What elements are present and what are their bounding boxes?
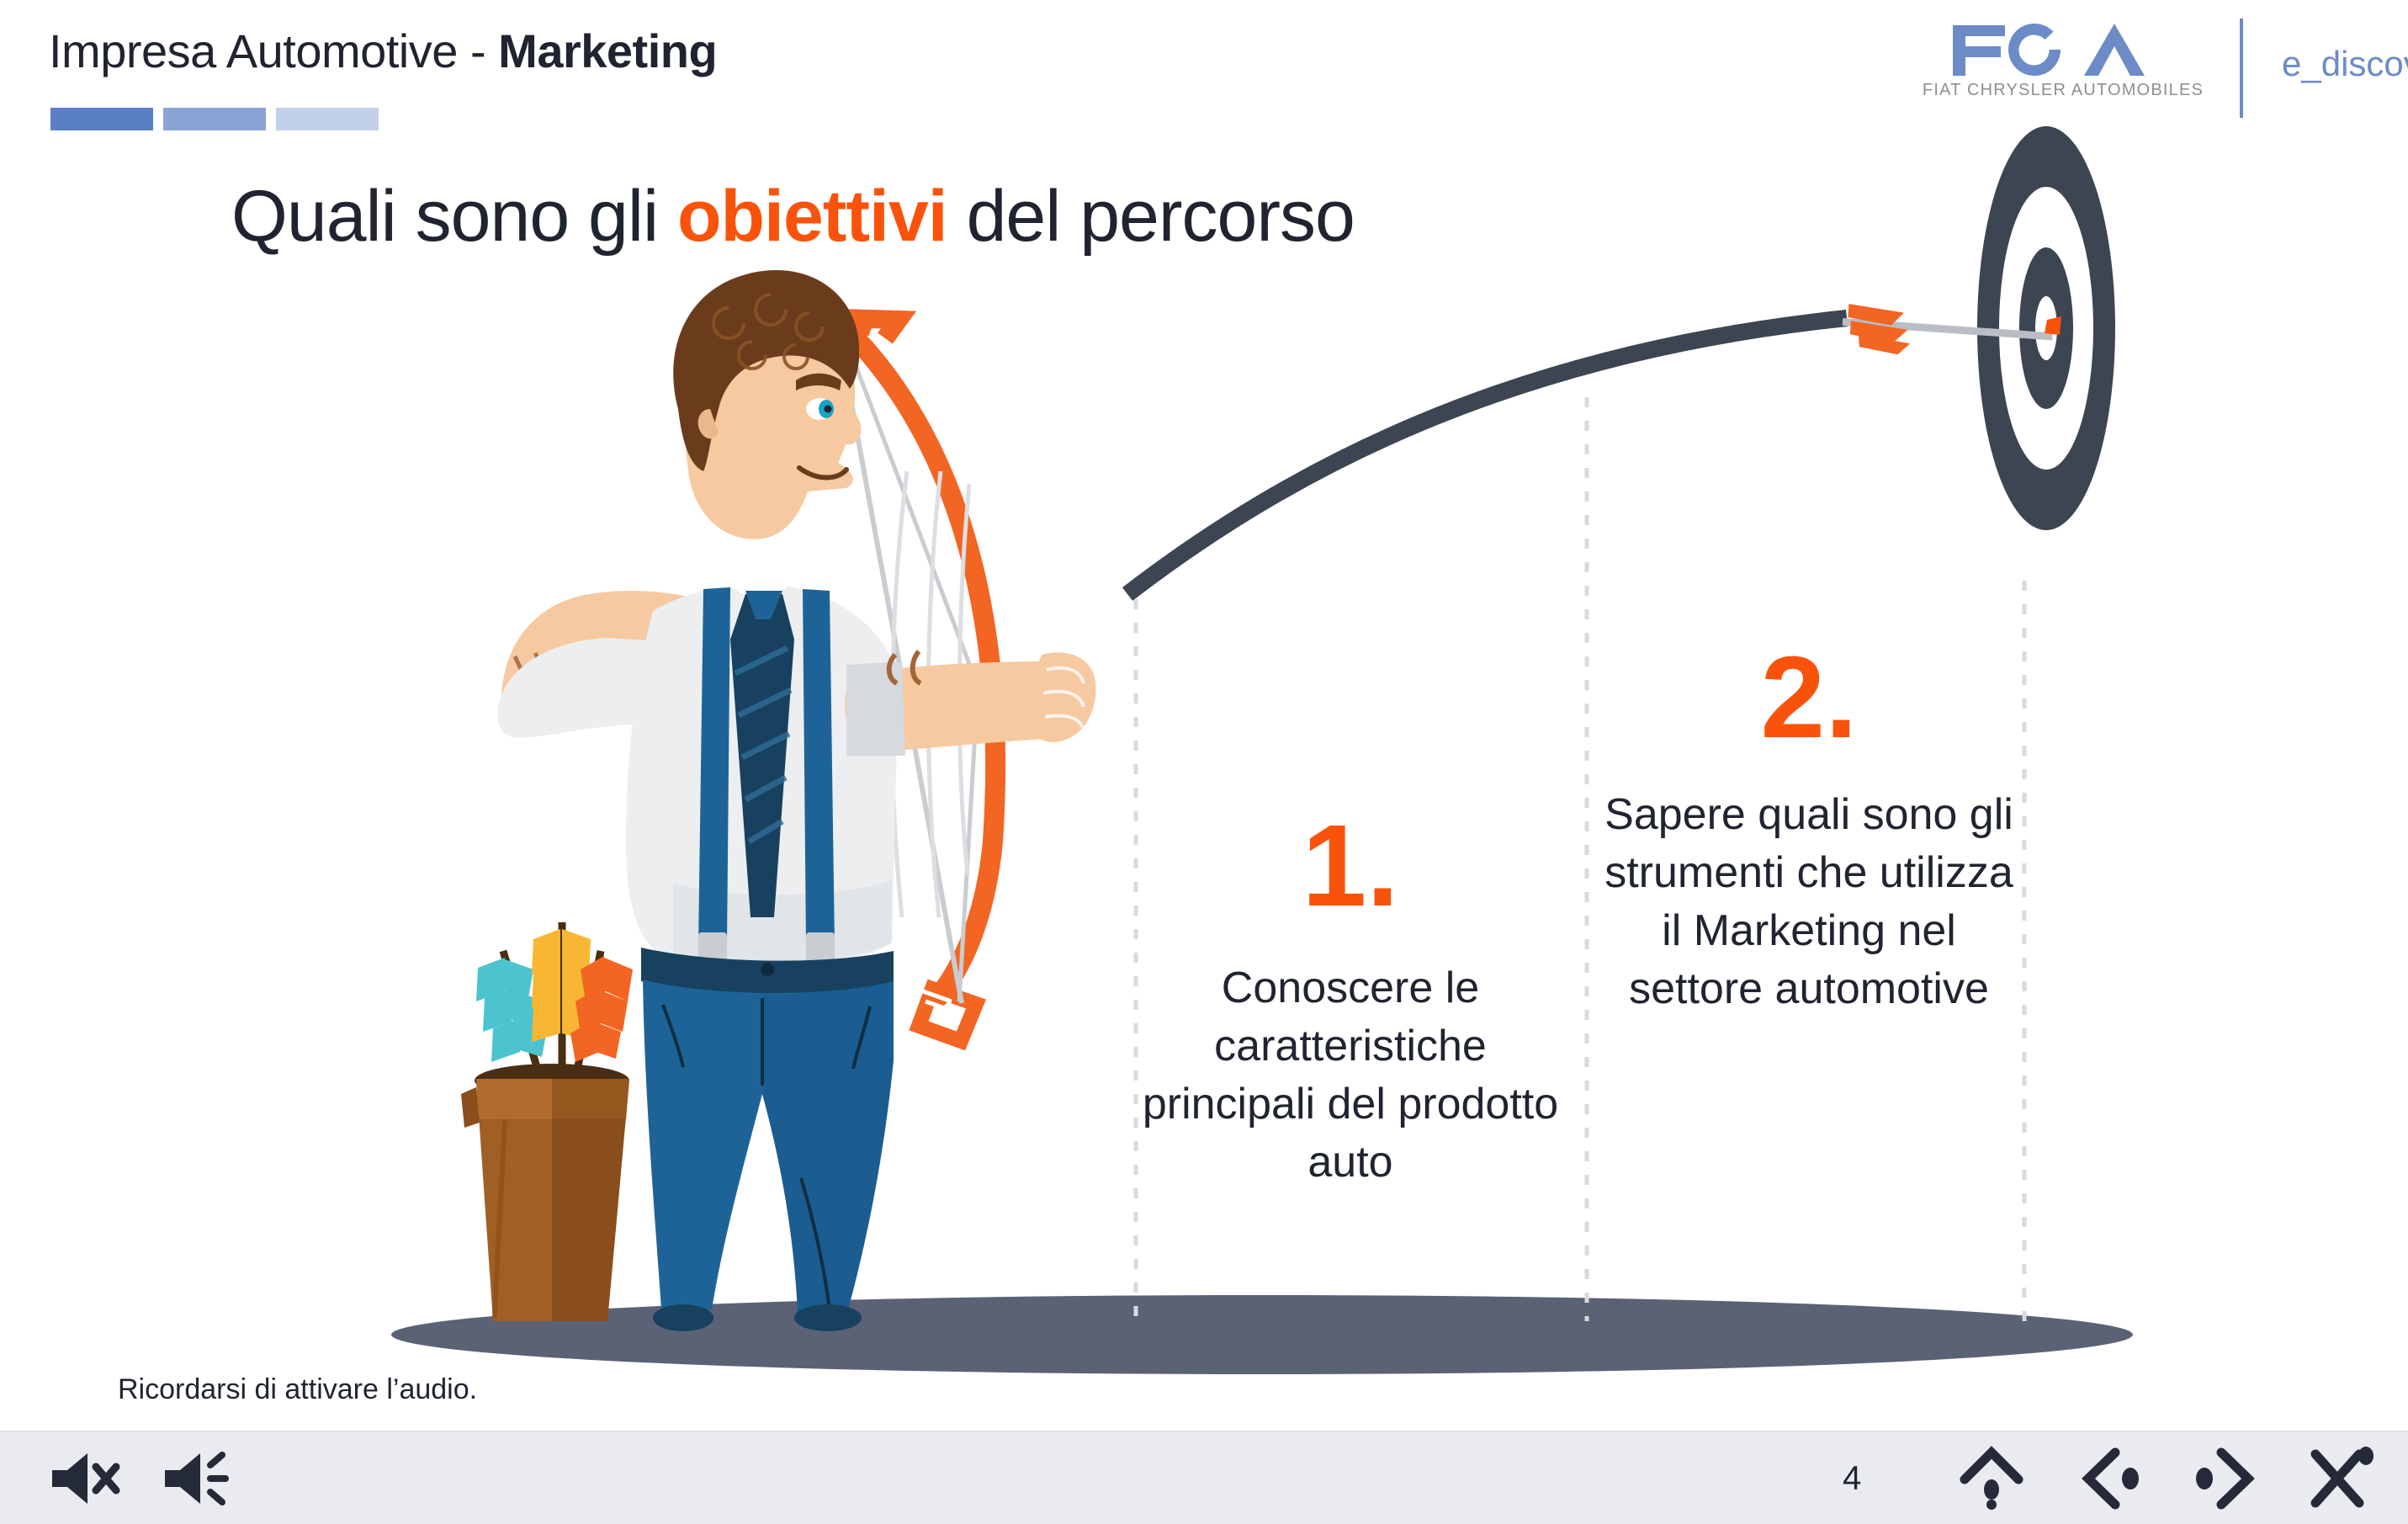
progress-indicator [50, 108, 379, 130]
objective-column-2: 2. Sapere quali sono gli strumenti che u… [1590, 640, 2028, 1019]
fletching-teal [476, 958, 547, 1062]
product-name: e_discovery [2282, 44, 2408, 84]
archer-figure [497, 270, 1095, 1331]
trousers [643, 980, 894, 1313]
brand-block: FIAT CHRYSLER AUTOMOBILES e_discovery [1870, 0, 2408, 135]
mute-button[interactable] [47, 1450, 123, 1507]
page-number: 4 [1843, 1459, 1861, 1497]
menu-button[interactable] [1956, 1446, 2027, 1511]
fca-logo: FIAT CHRYSLER AUTOMOBILES [1920, 22, 2206, 100]
brand-divider [2240, 19, 2243, 118]
trajectory-arc [1127, 318, 1847, 594]
slide-heading-part2: del percorso [947, 176, 1355, 257]
slide-heading-part1: Quali sono gli [231, 176, 677, 257]
fletching-orange [570, 956, 633, 1062]
objective-text-2: Sapere quali sono gli strumenti che util… [1590, 786, 2028, 1019]
rear-arm [501, 591, 740, 718]
motion-lines [892, 471, 969, 917]
slide-heading: Quali sono gli obiettivi del percorso [231, 175, 1355, 258]
fca-wordmark-icon [1949, 22, 2177, 77]
progress-bar-segment-3 [276, 108, 379, 130]
shirt-body [626, 584, 899, 968]
bow-hand [1023, 652, 1096, 742]
next-button[interactable] [2188, 1446, 2258, 1511]
slide-heading-accent: obiettivi [677, 176, 947, 257]
audio-reminder-text: Ricordarsi di attivare l’audio. [118, 1373, 477, 1406]
target-bullseye [1977, 126, 2115, 530]
head [684, 305, 855, 539]
necktie [730, 591, 794, 917]
chevron-up-dot-icon [1956, 1446, 2027, 1511]
fletching-yellow [532, 929, 591, 1042]
shoe-right [794, 1304, 862, 1331]
suspenders [698, 587, 835, 946]
objective-number-1: 1. [1140, 808, 1561, 924]
speaker-volume-icon [160, 1450, 236, 1507]
close-x-icon [2305, 1446, 2376, 1511]
page-title-normal: Impresa Automotive - [49, 24, 498, 77]
volume-button[interactable] [160, 1450, 236, 1507]
shoe-left [653, 1304, 713, 1331]
page-title: Impresa Automotive - Marketing [49, 24, 717, 78]
close-button[interactable] [2305, 1446, 2376, 1511]
bow [829, 316, 995, 1041]
objective-column-1: 1. Conoscere le caratteristiche principa… [1140, 808, 1561, 1192]
previous-button[interactable] [2078, 1446, 2149, 1511]
objective-text-1: Conoscere le caratteristiche principali … [1140, 959, 1561, 1192]
progress-bar-segment-2 [163, 108, 266, 130]
page-title-bold: Marketing [498, 24, 717, 77]
player-toolbar: 4 [0, 1431, 2408, 1524]
quiver [461, 922, 633, 1321]
belt [641, 948, 894, 995]
speaker-mute-icon [47, 1450, 123, 1507]
mouth [799, 468, 846, 478]
progress-bar-segment-1 [50, 108, 153, 130]
ground-shadow-ellipse [391, 1295, 2133, 1374]
shirt-collar [725, 555, 793, 606]
eye [806, 398, 833, 420]
objective-number-2: 2. [1590, 640, 2028, 756]
hair [673, 270, 859, 471]
quiver-body [476, 1079, 629, 1321]
fca-subtitle: FIAT CHRYSLER AUTOMOBILES [1920, 81, 2206, 100]
front-arm [845, 661, 1045, 752]
chevron-left-dot-icon [2078, 1446, 2149, 1511]
eyebrow [796, 374, 841, 390]
page-header: Impresa Automotive - Marketing FIAT CHRY… [0, 0, 2408, 147]
chevron-right-dot-icon [2188, 1446, 2258, 1511]
arrow-in-flight [1843, 304, 2061, 355]
